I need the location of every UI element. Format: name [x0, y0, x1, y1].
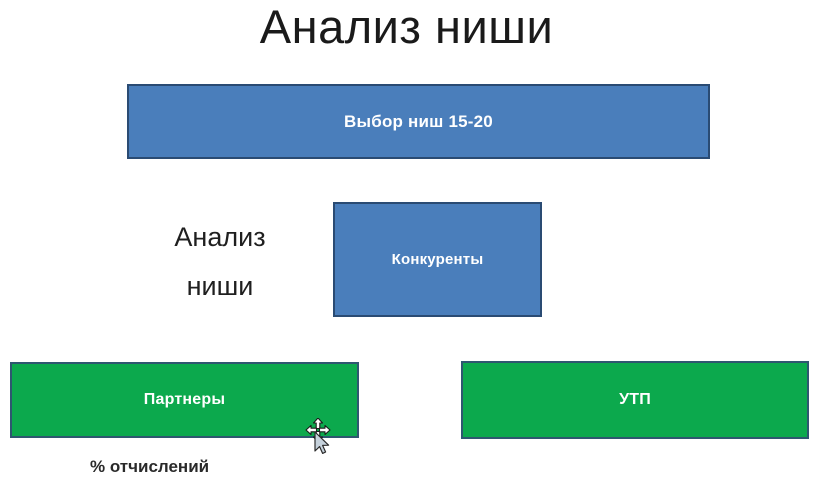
shape-partnery[interactable]: Партнеры: [10, 362, 359, 438]
label-analiz-nishi[interactable]: Анализ ниши: [135, 213, 305, 311]
page-title: Анализ ниши: [0, 0, 813, 54]
shape-utp-label: УТП: [619, 391, 651, 409]
shape-konkurenty[interactable]: Конкуренты: [333, 202, 542, 317]
slide-canvas: Анализ ниши Выбор ниш 15-20 Анализ ниши …: [0, 0, 813, 489]
label-percent-otchisleniy[interactable]: % отчислений: [90, 455, 209, 479]
shape-partnery-label: Партнеры: [144, 391, 225, 409]
shape-vybor-nish-label: Выбор ниш 15-20: [344, 112, 493, 132]
shape-vybor-nish[interactable]: Выбор ниш 15-20: [127, 84, 710, 159]
shape-utp[interactable]: УТП: [461, 361, 809, 439]
shape-konkurenty-label: Конкуренты: [392, 251, 484, 268]
